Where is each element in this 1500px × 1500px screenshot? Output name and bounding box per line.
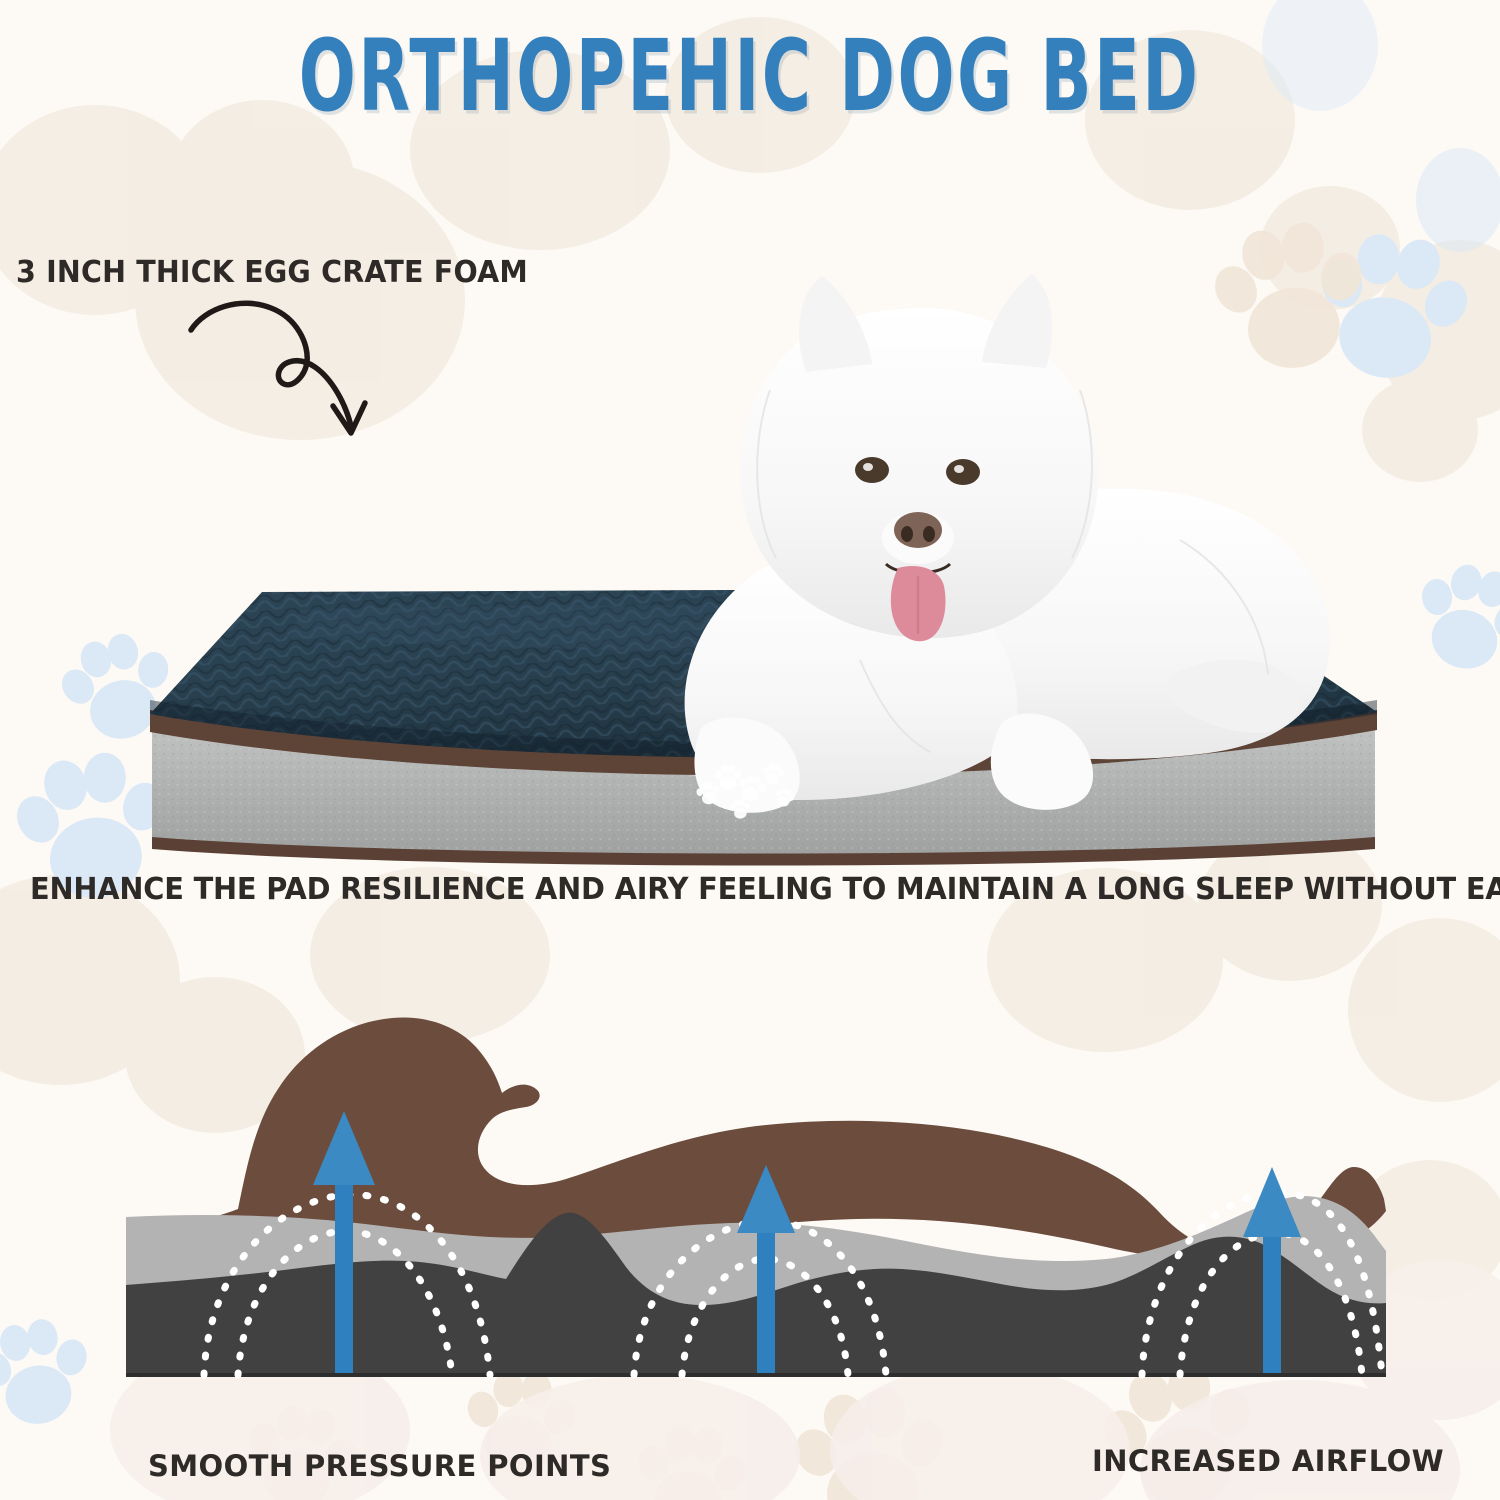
product-photo <box>0 140 1500 870</box>
curly-down-arrow-icon <box>185 292 395 442</box>
label-increased-airflow: INCREASED AIRFLOW <box>1092 1444 1444 1478</box>
foam-thickness-label: 3 INCH THICK EGG CRATE FOAM <box>16 255 528 290</box>
dog-photo-subject <box>685 274 1330 813</box>
label-smooth-pressure-points: SMOOTH PRESSURE POINTS <box>148 1449 611 1483</box>
product-caption: ENHANCE THE PAD RESILIENCE AND AIRY FEEL… <box>30 872 1470 907</box>
infographic-page: ORTHOPEHIC DOG BED 3 INCH THICK EGG CRAT… <box>0 0 1500 1500</box>
foam-cross-section-diagram <box>126 985 1386 1385</box>
